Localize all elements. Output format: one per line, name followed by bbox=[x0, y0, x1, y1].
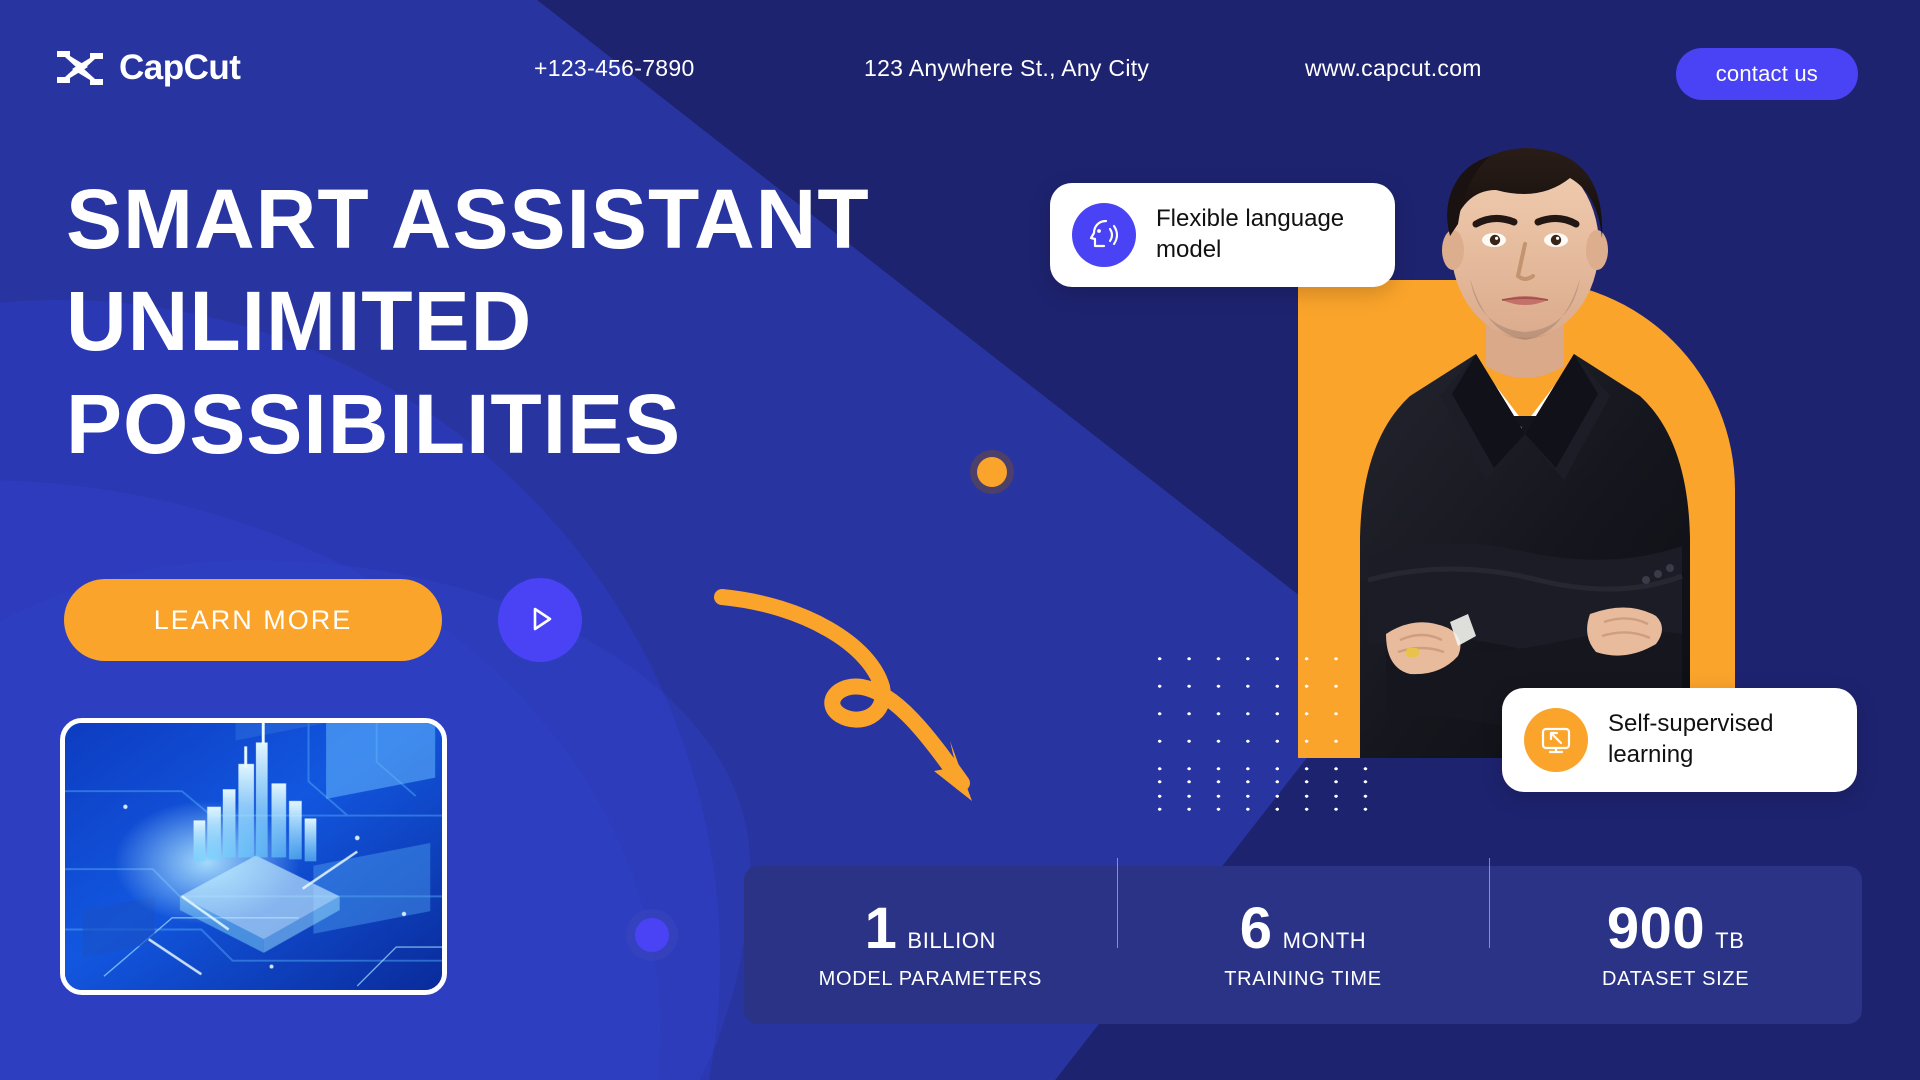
header-phone[interactable]: +123-456-7890 bbox=[534, 55, 695, 82]
stat-value: 1 bbox=[865, 900, 898, 958]
stat-label: DATASET SIZE bbox=[1489, 968, 1862, 991]
dot-grid-pattern-lower bbox=[1145, 768, 1380, 828]
badge-label: Self-supervised learning bbox=[1608, 709, 1827, 770]
monitor-cursor-icon bbox=[1524, 708, 1588, 772]
headline-line-1: SMART ASSISTANT bbox=[66, 168, 870, 270]
play-triangle-icon bbox=[523, 602, 557, 639]
hero-cta-row: LEARN MORE bbox=[64, 578, 582, 662]
stat-label: TRAINING TIME bbox=[1117, 968, 1490, 991]
curved-arrow-icon bbox=[710, 575, 1010, 835]
stat-item: 6 MONTH TRAINING TIME bbox=[1117, 900, 1490, 991]
speaking-face-icon bbox=[1072, 203, 1136, 267]
circuit-thumbnail[interactable] bbox=[60, 718, 447, 995]
orange-dot bbox=[977, 457, 1007, 487]
learn-more-button[interactable]: LEARN MORE bbox=[64, 579, 442, 661]
blue-dot bbox=[635, 918, 669, 952]
badge-self-supervised-learning[interactable]: Self-supervised learning bbox=[1502, 688, 1857, 792]
stat-unit: BILLION bbox=[907, 928, 996, 954]
brand-logo[interactable]: CapCut bbox=[55, 48, 240, 88]
stat-unit: TB bbox=[1715, 928, 1744, 954]
stat-item: 1 BILLION MODEL PARAMETERS bbox=[744, 900, 1117, 991]
stats-panel: 1 BILLION MODEL PARAMETERS 6 MONTH TRAIN… bbox=[744, 866, 1862, 1024]
stat-value: 900 bbox=[1607, 900, 1705, 958]
headline-line-2: UNLIMITED bbox=[66, 270, 870, 372]
site-header: CapCut +123-456-7890 123 Anywhere St., A… bbox=[0, 0, 1920, 130]
badge-label: Flexible language model bbox=[1156, 204, 1365, 265]
banner-canvas: CapCut +123-456-7890 123 Anywhere St., A… bbox=[0, 0, 1920, 1080]
capcut-logo-icon bbox=[55, 49, 105, 87]
stat-unit: MONTH bbox=[1283, 928, 1367, 954]
stat-value: 6 bbox=[1240, 900, 1273, 958]
headline-line-3: POSSIBILITIES bbox=[66, 373, 870, 475]
stat-label: MODEL PARAMETERS bbox=[744, 968, 1117, 991]
play-video-button[interactable] bbox=[498, 578, 582, 662]
contact-us-button[interactable]: contact us bbox=[1676, 48, 1858, 100]
brand-name: CapCut bbox=[119, 48, 240, 88]
hero-headline: SMART ASSISTANT UNLIMITED POSSIBILITIES bbox=[66, 168, 870, 475]
header-website[interactable]: www.capcut.com bbox=[1305, 55, 1482, 82]
stat-item: 900 TB DATASET SIZE bbox=[1489, 900, 1862, 991]
header-address[interactable]: 123 Anywhere St., Any City bbox=[864, 55, 1149, 82]
circuit-board-image bbox=[65, 723, 442, 993]
badge-flexible-language-model[interactable]: Flexible language model bbox=[1050, 183, 1395, 287]
